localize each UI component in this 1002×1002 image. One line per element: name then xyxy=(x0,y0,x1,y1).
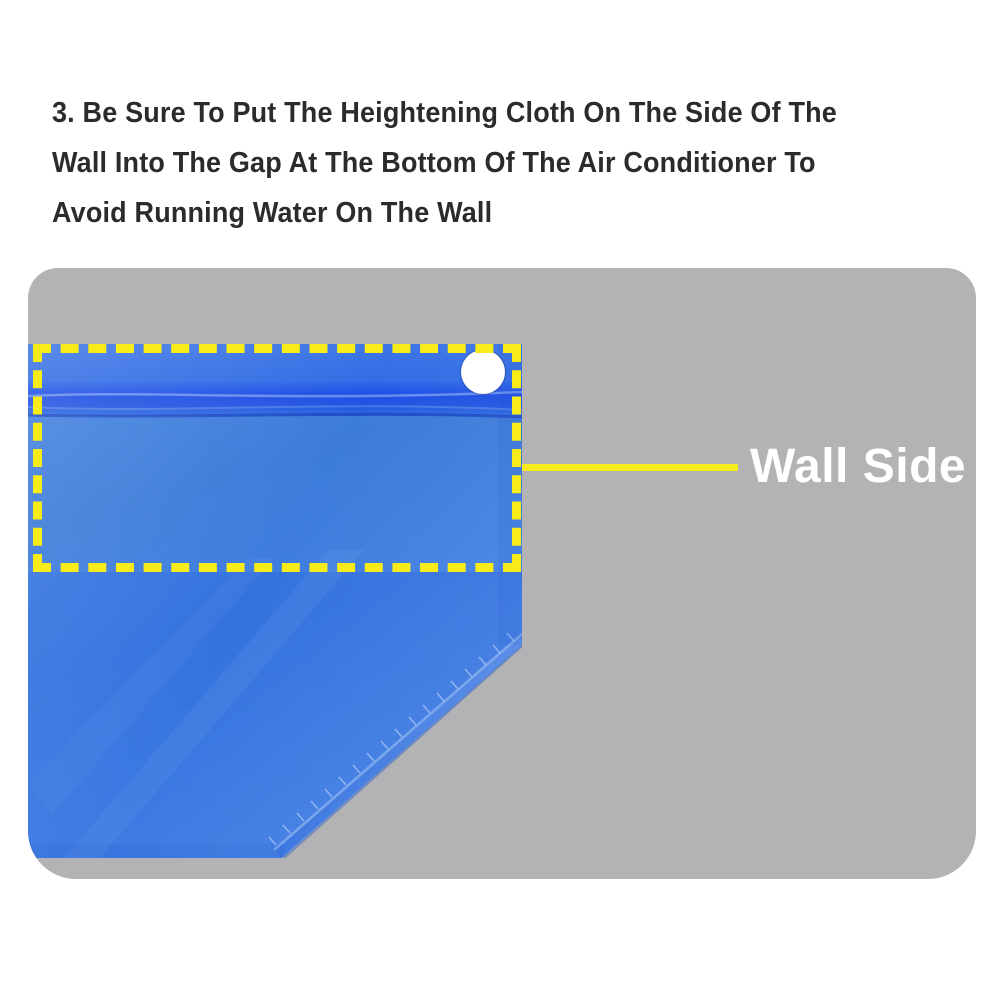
cloth-shape xyxy=(28,344,522,858)
illustration-panel: Wall Side xyxy=(28,268,976,879)
callout-leader-line xyxy=(522,464,738,471)
callout-label-wall-side: Wall Side xyxy=(750,438,966,496)
grommet-hole-icon xyxy=(461,350,505,394)
heightening-cloth-image xyxy=(28,344,522,858)
instruction-text: 3. Be Sure To Put The Heightening Cloth … xyxy=(52,88,889,238)
